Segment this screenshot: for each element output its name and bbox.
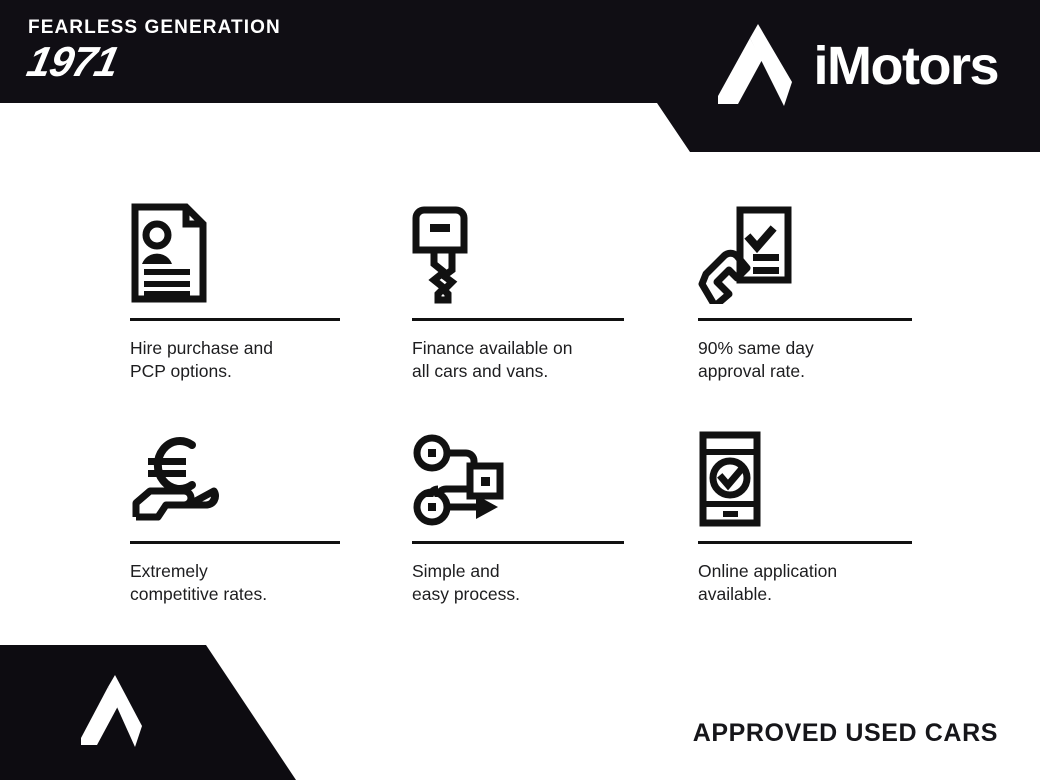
process-flow-icon [412, 419, 624, 527]
feature-label: 90% same day approval rate. [698, 337, 912, 383]
tagline-year: 1971 [24, 41, 286, 83]
feature-label: Simple and easy process. [412, 560, 624, 606]
feature-divider [130, 318, 340, 321]
feature-label: Finance available on all cars and vans. [412, 337, 624, 383]
document-person-icon [130, 196, 340, 304]
feature-divider [412, 318, 624, 321]
feature-item: Simple and easy process. [412, 419, 624, 606]
tagline-heading: FEARLESS GENERATION [28, 18, 281, 37]
feature-label: Online application available. [698, 560, 912, 606]
feature-divider [412, 541, 624, 544]
imotors-chevron-mark-icon [710, 20, 796, 112]
feature-item: 90% same day approval rate. [698, 196, 912, 383]
euro-in-hand-icon [130, 419, 340, 527]
feature-divider [130, 541, 340, 544]
hand-holding-approved-document-icon [698, 196, 912, 304]
promo-poster: FEARLESS GENERATION 1971 iMotors [0, 0, 1040, 780]
car-key-icon [412, 196, 624, 304]
brand-lockup: iMotors [710, 20, 999, 112]
feature-item: Online application available. [698, 419, 912, 606]
brand-name: iMotors [814, 39, 999, 93]
feature-label: Extremely competitive rates. [130, 560, 340, 606]
footer-banner [0, 645, 300, 780]
feature-item: Extremely competitive rates. [130, 419, 340, 606]
fearless-generation-lockup: FEARLESS GENERATION 1971 [28, 18, 281, 83]
feature-label: Hire purchase and PCP options. [130, 337, 340, 383]
feature-item: Finance available on all cars and vans. [412, 196, 624, 383]
feature-divider [698, 541, 912, 544]
feature-divider [698, 318, 912, 321]
smartphone-check-icon [698, 419, 912, 527]
footer-tagline: APPROVED USED CARS [693, 719, 998, 748]
feature-grid: Hire purchase and PCP options. Finance a… [130, 196, 912, 606]
feature-item: Hire purchase and PCP options. [130, 196, 340, 383]
